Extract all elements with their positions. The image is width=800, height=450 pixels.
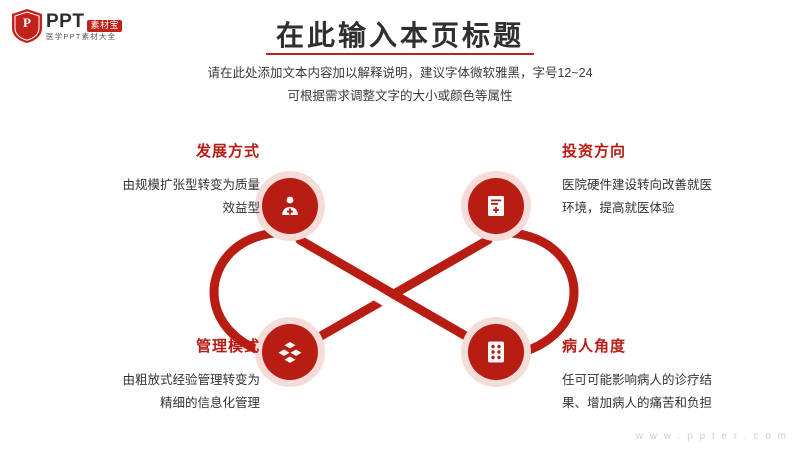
body-management-line-2: 精细的信息化管理 [55,392,260,415]
node-management[interactable] [262,324,318,380]
pills-grid-icon [485,340,507,364]
heading-management: 管理模式 [150,335,260,356]
doctor-icon [278,194,302,218]
body-patient-line-2: 果、增加病人的痛苦和负担 [562,392,797,415]
body-management: 由粗放式经验管理转变为 精细的信息化管理 [55,369,260,414]
site-watermark: w w w . p p t e r . c o m [636,431,788,442]
node-development[interactable] [262,178,318,234]
cubes-icon [278,341,302,363]
body-investment: 医院硬件建设转向改善就医 环境，提高就医体验 [562,174,792,219]
body-development-line-1: 由规模扩张型转变为质量 [55,174,260,197]
heading-investment: 投资方向 [562,140,702,161]
node-patient[interactable] [468,324,524,380]
body-management-line-1: 由粗放式经验管理转变为 [55,369,260,392]
node-investment[interactable] [468,178,524,234]
body-development: 由规模扩张型转变为质量 效益型 [55,174,260,219]
document-plus-icon [485,194,507,218]
body-patient: 任可可能影响病人的诊疗结 果、增加病人的痛苦和负担 [562,369,797,414]
body-investment-line-2: 环境，提高就医体验 [562,197,792,220]
heading-patient: 病人角度 [562,335,702,356]
body-investment-line-1: 医院硬件建设转向改善就医 [562,174,792,197]
body-development-line-2: 效益型 [55,197,260,220]
body-patient-line-1: 任可可能影响病人的诊疗结 [562,369,797,392]
heading-development: 发展方式 [160,140,260,161]
